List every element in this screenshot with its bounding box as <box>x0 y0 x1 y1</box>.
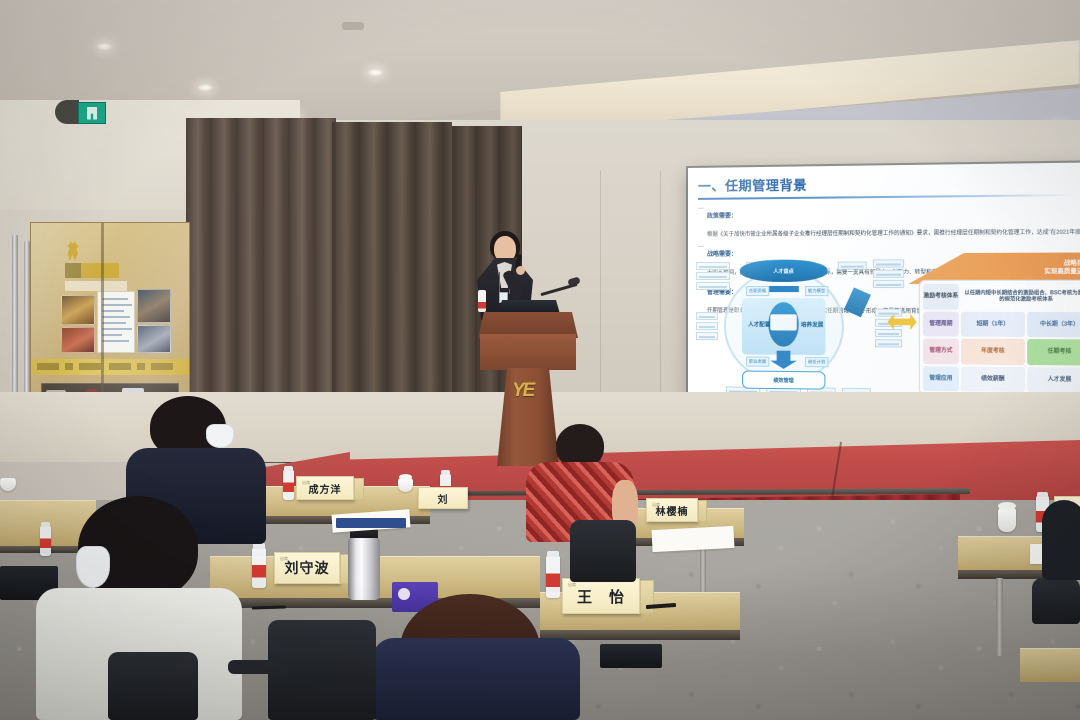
wall-seam <box>600 170 601 395</box>
wall-speaker <box>55 100 79 124</box>
diagram-tag: 继任计划 <box>805 357 828 367</box>
table-cell-a: 短期（1年） <box>961 311 1025 337</box>
bullet-dash-icon: — <box>698 204 704 240</box>
name-placard: 出席 林樱楠 <box>646 498 698 522</box>
table-row: 管理方式 年度考核 任期考核 <box>923 338 1080 365</box>
table-header-label: 激励考核体系 <box>923 284 959 309</box>
table-row-label: 管理周期 <box>923 311 959 336</box>
table-edge <box>540 630 740 640</box>
name-placard: 刘 <box>418 487 468 509</box>
water-bottle <box>40 526 51 556</box>
water-bottle <box>546 556 560 598</box>
table-cell-b: 人才发展 <box>1027 367 1080 393</box>
attendee-suit <box>1042 500 1080 580</box>
tissue-logo-icon <box>398 588 410 600</box>
downlight-icon <box>368 69 383 76</box>
table-cell-a: 年度考核 <box>961 339 1025 365</box>
face-mask <box>206 424 234 448</box>
table-leg <box>700 546 706 598</box>
slide-content: 一、任期管理背景 — 政策需要： 根据《关于加快市管企业所属各级子企业推行经理层… <box>688 162 1080 409</box>
water-bottle <box>478 290 486 312</box>
placard-name: 王 怡 <box>577 586 625 607</box>
water-bottle <box>283 470 294 500</box>
table-row: 管理周期 短期（1年） 中长期（3年） <box>923 311 1080 337</box>
table-row-label: 管理方式 <box>923 338 959 363</box>
diagram-tag: 职业发展 <box>746 356 769 366</box>
placard-name: 林樱楠 <box>656 503 689 518</box>
name-placard: 出席 成方洋 <box>296 476 354 500</box>
ceiling-vent <box>342 22 364 30</box>
thermos-carafe <box>348 538 380 600</box>
placard-subtitle: 出席 <box>280 556 288 562</box>
bullet-text: 根据《关于加快市管企业所属各级子企业推行经理层任期制和契约化管理工作的通知》要求… <box>707 228 1080 237</box>
laptop <box>600 644 662 668</box>
banner-line1: 战略目标 <box>1064 260 1080 268</box>
chair-armrest <box>228 660 288 674</box>
downlight-icon <box>198 84 213 91</box>
placard-name: 成方洋 <box>309 481 342 496</box>
placard-subtitle: 出席 <box>652 502 660 508</box>
slide-title-underline <box>698 194 1073 199</box>
downlight-icon <box>97 43 112 50</box>
diagram-label-right: 培养发展 <box>801 320 824 328</box>
office-chair <box>570 520 636 582</box>
conference-table <box>1020 648 1080 682</box>
placard-subtitle: 出席 <box>568 582 576 588</box>
name-placard: 出席 刘守波 <box>274 552 340 584</box>
table-cell-b: 任期考核 <box>1027 339 1080 365</box>
banner-line2: 实现高质量迈进 <box>1044 268 1080 276</box>
water-bottle <box>252 548 266 588</box>
bottle-cap <box>1037 492 1048 497</box>
bottle-cap <box>284 466 293 471</box>
diagram-node-bottom: 绩效管理 <box>742 371 825 390</box>
blue-folder <box>336 518 406 528</box>
face-mask <box>76 546 110 588</box>
presenter-hand <box>516 266 525 275</box>
office-chair <box>108 652 198 720</box>
diagram-tag: 能力模型 <box>805 286 828 296</box>
podium-logo: YE <box>512 380 542 404</box>
wall-seam <box>660 170 661 395</box>
office-chair <box>1032 578 1080 624</box>
podium-front-panel <box>480 334 576 370</box>
table-row: 管理应用 绩效薪酬 人才发展 <box>923 366 1080 393</box>
slide-diagram: 人才盘点 绩效管理 人才配置 培养发展 任职资格 能力模型 职业发展 继任计划 <box>696 255 905 399</box>
projection-screen: 一、任期管理背景 — 政策需要： 根据《关于加快市管企业所属各级子企业推行经理层… <box>688 162 1080 409</box>
slide-title: 一、任期管理背景 <box>698 174 807 194</box>
bullet-item: — 政策需要： 根据《关于加快市管企业所属各级子企业推行经理层任期制和契约化管理… <box>698 201 1080 241</box>
document-paper <box>651 526 734 552</box>
table-cell-b: 中长期（3年） <box>1027 311 1080 337</box>
bottle-cap <box>547 551 559 557</box>
exit-person-icon <box>87 107 97 120</box>
placard-name: 刘 <box>438 491 449 506</box>
diagram-node-top: 人才盘点 <box>740 260 827 282</box>
table-row-label: 管理应用 <box>923 366 959 392</box>
teacup-lid <box>998 502 1016 510</box>
teacup <box>0 478 16 491</box>
teacup-lid <box>399 474 412 480</box>
podium-laptop <box>498 300 560 314</box>
diagram-connector <box>768 286 799 292</box>
diagram-tag: 任职资格 <box>746 286 769 296</box>
diagram-kite-shape <box>844 287 871 317</box>
table-row: 激励考核体系 以任期内短中长期结合的激励组合、BSC考核为重点的规范化激励考核体… <box>923 284 1080 310</box>
teacup <box>998 508 1016 532</box>
name-placard: 出席 王 怡 <box>562 578 640 614</box>
table-cell-a: 绩效薪酬 <box>961 366 1025 392</box>
placard-fold <box>698 500 707 522</box>
bullet-label: 政策需要： <box>707 213 737 219</box>
table-header-value: 以任期内短中长期结合的激励组合、BSC考核为重点的规范化激励考核体系 <box>961 284 1080 310</box>
bottle-cap <box>441 470 450 475</box>
comparison-table: 激励考核体系 以任期内短中长期结合的激励组合、BSC考核为重点的规范化激励考核体… <box>919 280 1080 397</box>
table-leg <box>996 578 1003 656</box>
attendee-blazer <box>372 638 580 720</box>
diagram-label-left: 人才配置 <box>748 320 770 328</box>
placard-name: 刘守波 <box>285 558 330 578</box>
placard-fold <box>354 478 364 500</box>
exit-sign <box>78 102 106 124</box>
diagram-center-highlight <box>770 314 796 330</box>
slide-title-row: 一、任期管理背景 <box>698 171 1080 195</box>
bottle-cap <box>41 522 50 527</box>
placard-subtitle: 出席 <box>302 480 310 486</box>
conference-room-photo: 一、任期管理背景 — 政策需要： 根据《关于加快市管企业所属各级子企业推行经理层… <box>0 0 1080 720</box>
